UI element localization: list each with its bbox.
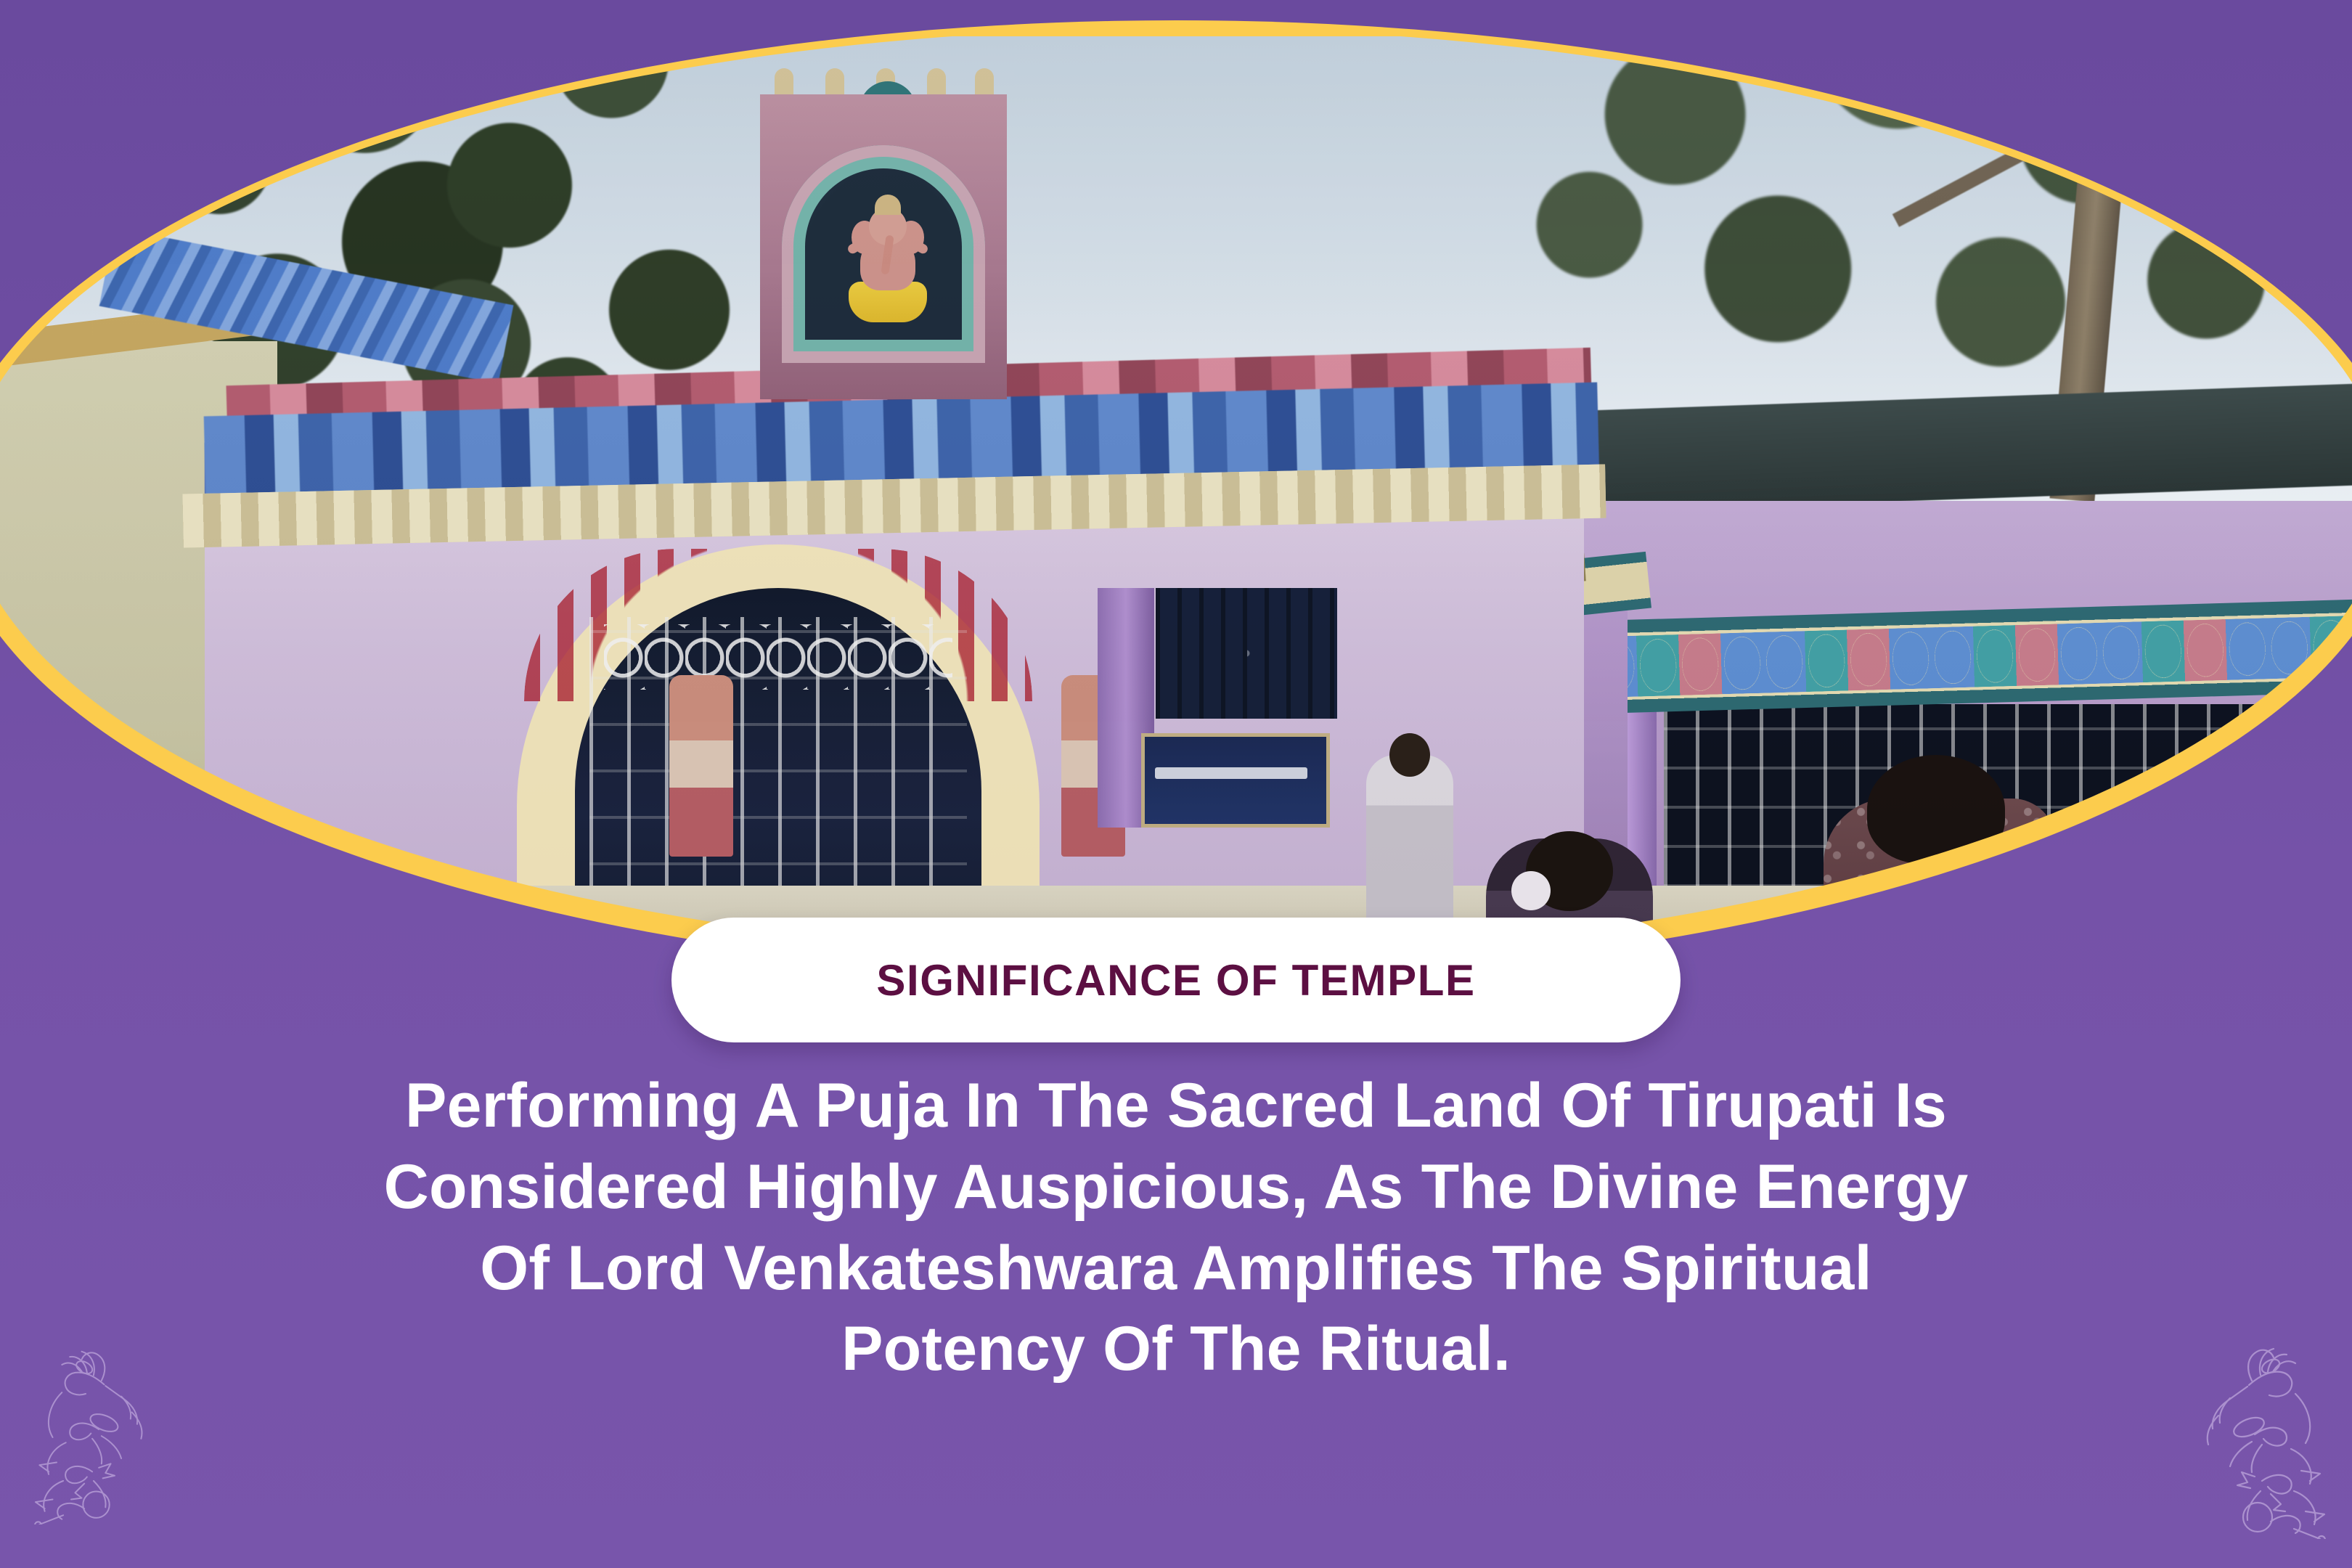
poster-canvas: SIGNIFICANCE OF TEMPLE Performing A Puja… — [0, 0, 2352, 1568]
photo-frame — [0, 20, 2352, 965]
man-devotee-head — [1867, 755, 2005, 864]
ganesha-idol — [847, 203, 927, 327]
significance-badge-label: SIGNIFICANCE OF TEMPLE — [876, 955, 1475, 1005]
second-man-devotee — [2049, 842, 2186, 950]
person-in-doorway-head — [1389, 733, 1430, 777]
body-line-3: Of Lord Venkateshwara Amplifies The Spir… — [138, 1228, 2214, 1310]
temple-signboard — [1141, 733, 1330, 828]
body-line-4: Potency Of The Ritual. — [138, 1309, 2214, 1390]
body-paragraph: Performing A Puja In The Sacred Land Of … — [138, 1066, 2214, 1390]
temple-window-grill — [1156, 588, 1337, 719]
body-line-2: Considered Highly Auspicious, As The Div… — [138, 1147, 2214, 1228]
significance-badge: SIGNIFICANCE OF TEMPLE — [671, 918, 1681, 1042]
temple-photo — [0, 36, 2352, 950]
woman-devotee-hairbun — [1511, 871, 1551, 910]
photo-scene — [0, 36, 2352, 950]
body-line-1: Performing A Puja In The Sacred Land Of … — [138, 1066, 2214, 1147]
gate-scrollwork — [604, 624, 952, 690]
dvarapalaka-statue-left — [669, 675, 733, 857]
